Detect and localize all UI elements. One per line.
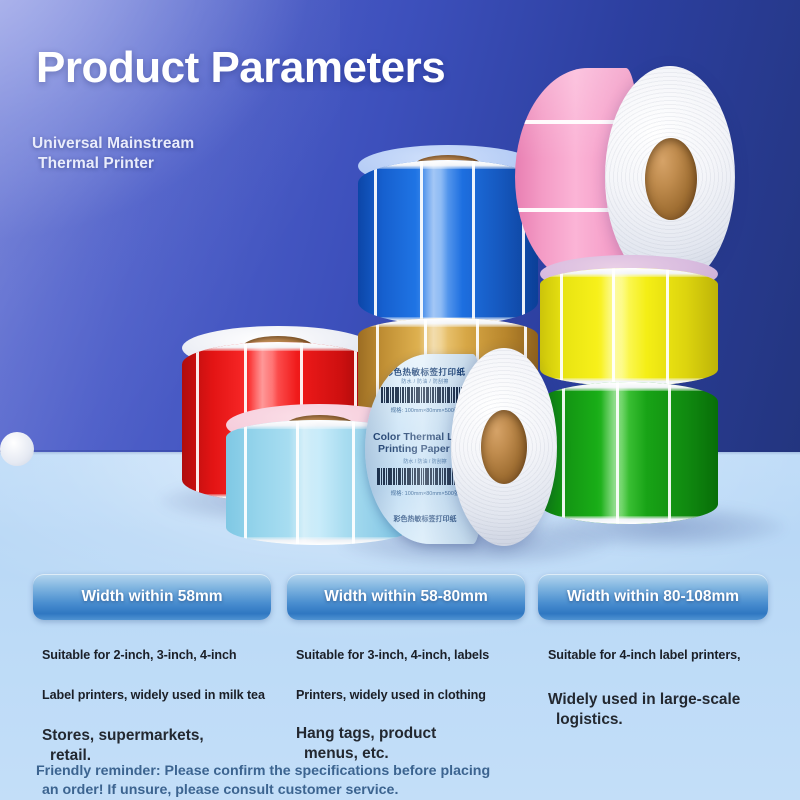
spec-column-3: Suitable for 4-inch label printers, Wide… (548, 648, 740, 729)
yellow-roll (540, 268, 718, 386)
blue-roll-seam (420, 160, 423, 325)
red-roll-seam (196, 342, 199, 502)
product-banner: Product Parameters Universal Mainstream … (0, 0, 800, 800)
pink-roll-core (645, 138, 697, 220)
yellow-roll-seam (612, 268, 615, 386)
spec-column-3-line-3: Widely used in large-scale logistics. (548, 690, 740, 729)
green-roll-seam (668, 382, 671, 524)
cyan-roll-seam (244, 420, 247, 545)
green-roll-seam (616, 382, 619, 524)
spec-column-2: Suitable for 3-inch, 4-inch, labels Prin… (296, 648, 489, 763)
subtitle-line-1: Universal Mainstream (32, 135, 194, 152)
blue-roll (358, 160, 538, 325)
spec-pill-1[interactable]: Width within 58mm (33, 574, 271, 620)
yellow-roll-seam (666, 268, 669, 386)
spec-column-1-line-3a: Stores, supermarkets, (42, 727, 204, 744)
cyan-roll-seam (352, 420, 355, 545)
green-roll (540, 382, 718, 524)
green-roll-gloss (601, 382, 629, 524)
cyan-roll-seam (296, 420, 299, 545)
spec-column-2-line-1: Suitable for 3-inch, 4-inch, labels (296, 648, 489, 662)
footer-reminder: Friendly reminder: Please confirm the sp… (36, 762, 490, 800)
yellow-roll-wrap (540, 268, 718, 386)
gold-roll-liner-top (358, 318, 538, 327)
spec-column-3-line-3b: logistics. (548, 710, 740, 730)
green-roll-wrap (540, 382, 718, 524)
labeled-roll: 彩色热敏标签打印纸 防水 / 防油 / 防刮擦 规格: 100mm×80mm×5… (365, 348, 557, 546)
blue-roll-seam (472, 160, 475, 325)
footer-line-1: Friendly reminder: Please confirm the sp… (36, 763, 490, 779)
spec-pill-3[interactable]: Width within 80-108mm (538, 574, 768, 620)
spec-column-1-line-2: Label printers, widely used in milk tea (42, 688, 265, 702)
spec-pill-1-label: Width within 58mm (81, 588, 222, 606)
spec-column-1-line-1: Suitable for 2-inch, 3-inch, 4-inch (42, 648, 265, 662)
spec-column-2-line-3b: menus, etc. (296, 744, 489, 764)
green-roll-liner-top (540, 382, 718, 391)
subtitle-line-2: Thermal Printer (32, 154, 194, 174)
spec-pill-2-label: Width within 58-80mm (324, 588, 487, 606)
footer-line-2: an order! If unsure, please consult cust… (36, 781, 490, 800)
green-roll-liner-bottom (540, 516, 718, 524)
cyan-roll-gloss (289, 420, 319, 545)
spec-column-2-line-3: Hang tags, product menus, etc. (296, 724, 489, 763)
green-roll-seam (562, 382, 565, 524)
yellow-roll-seam (560, 268, 563, 386)
blue-roll-wrap (358, 160, 538, 325)
spec-column-1: Suitable for 2-inch, 3-inch, 4-inch Labe… (42, 648, 265, 765)
spec-column-3-line-1: Suitable for 4-inch label printers, (548, 648, 740, 662)
spec-pill-row: Width within 58mm Width within 58-80mm W… (0, 574, 800, 620)
blue-roll-seam (374, 160, 377, 325)
spec-pill-2[interactable]: Width within 58-80mm (287, 574, 525, 620)
labeled-roll-core (481, 410, 527, 484)
partial-roll-left-edge (0, 432, 34, 466)
page-subtitle: Universal Mainstream Thermal Printer (32, 134, 194, 175)
spec-column-2-line-3a: Hang tags, product (296, 725, 436, 742)
blue-roll-gloss (419, 160, 448, 325)
page-title: Product Parameters (36, 44, 445, 92)
spec-column-2-line-2: Printers, widely used in clothing (296, 688, 489, 702)
spec-column-1-line-3: Stores, supermarkets, retail. (42, 726, 265, 765)
spec-pill-3-label: Width within 80-108mm (567, 588, 739, 606)
spec-column-3-line-3a: Widely used in large-scale (548, 691, 740, 708)
